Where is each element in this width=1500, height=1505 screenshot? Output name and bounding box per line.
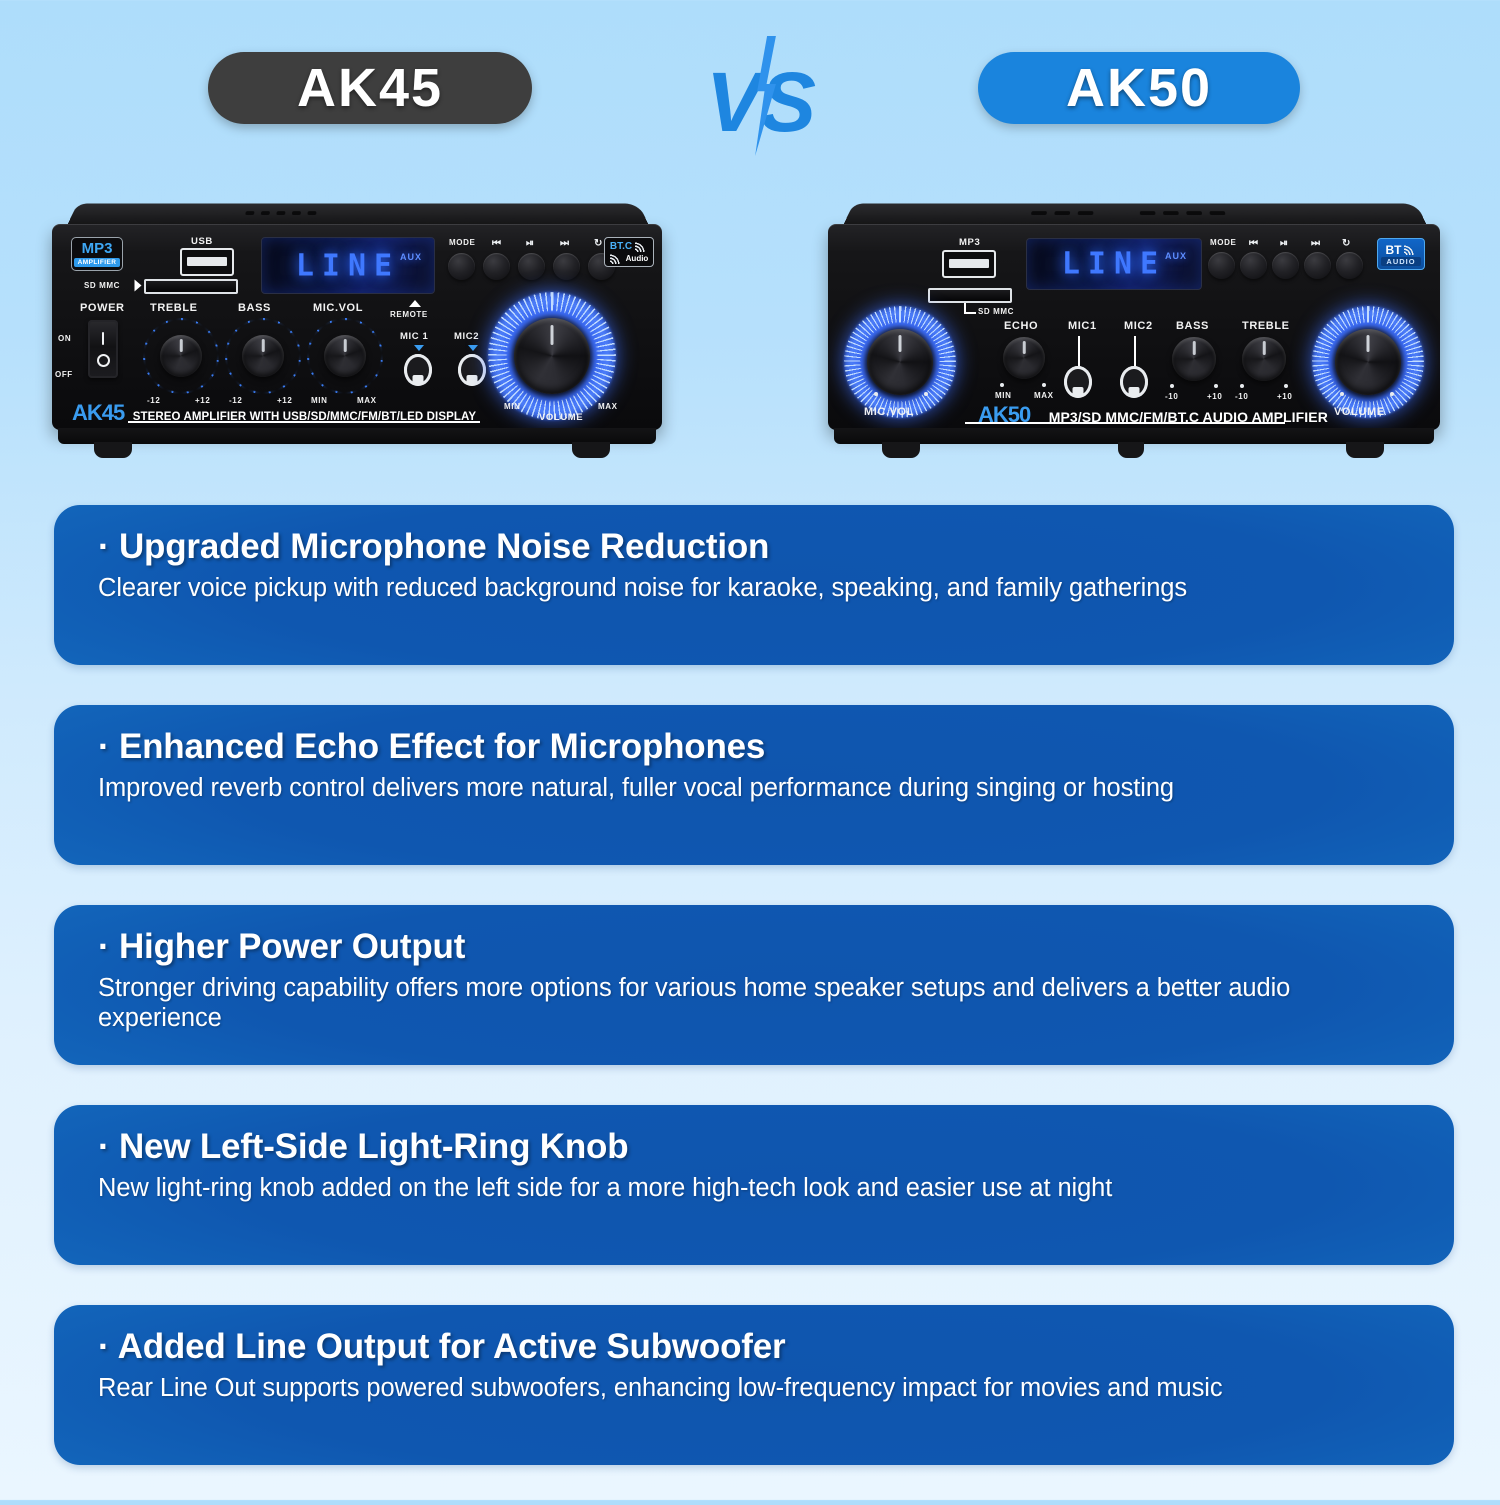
mic2-arrow-icon xyxy=(468,345,478,351)
model-badge-ak45: AK45 xyxy=(208,52,532,124)
ak50-foot-right xyxy=(1346,442,1384,458)
treble-knob-label: TREBLE xyxy=(150,302,198,314)
echo-max-dot xyxy=(1042,383,1046,387)
mic2-leader-line xyxy=(1134,336,1136,368)
ak45-foot-right xyxy=(572,442,610,458)
mic-vol-max-dot xyxy=(924,392,928,396)
remote-label: REMOTE xyxy=(390,310,428,319)
mic-vol-knob-label: MIC.VOL xyxy=(313,302,363,314)
repeat-button-ak50[interactable] xyxy=(1336,252,1363,279)
treble-knob-ak50[interactable] xyxy=(1242,337,1286,381)
device-image-ak50: MP3 SD MMC LINE AUX MODE ⏮ ⏯ ⏭ ↻ BT xyxy=(828,196,1440,466)
feature-title: · Upgraded Microphone Noise Reduction xyxy=(98,527,1412,567)
play-pause-button[interactable] xyxy=(518,253,545,280)
treble-max-dot xyxy=(1284,384,1288,388)
echo-min-label: MIN xyxy=(995,391,1011,400)
model-badge-ak50: AK50 xyxy=(978,52,1300,124)
mic-vol-knob-cap[interactable] xyxy=(867,329,933,395)
next-track-icon-ak50: ⏭ xyxy=(1311,238,1320,249)
mic-vol-knob[interactable] xyxy=(324,335,366,377)
feature-title: · New Left-Side Light-Ring Knob xyxy=(98,1127,1412,1167)
previous-track-icon: ⏮ xyxy=(492,238,501,249)
model-badge-ak50-label: AK50 xyxy=(1066,61,1212,115)
echo-knob[interactable] xyxy=(1003,337,1045,379)
ak50-brand-underline xyxy=(965,422,1285,424)
feature-title: · Higher Power Output xyxy=(98,927,1412,967)
bass-knob-ak50[interactable] xyxy=(1172,337,1216,381)
bt-badge-line2-ak50: AUDIO xyxy=(1381,257,1420,266)
volume-knob-cap[interactable] xyxy=(514,318,590,394)
bass-max-dot xyxy=(1214,384,1218,388)
ak50-brand-line: AK50 MP3/SD MMC/FM/BT.C AUDIO AMPLIFIER xyxy=(978,402,1328,428)
ak45-chassis-base xyxy=(58,428,656,444)
sd-leader-line-h xyxy=(964,312,976,314)
mp3-amplifier-badge: MP3 AMPLIFIER xyxy=(71,237,123,271)
power-off-mark-icon xyxy=(97,354,110,367)
bass-knob[interactable] xyxy=(242,335,284,377)
bass-knob-label: BASS xyxy=(238,302,271,314)
play-pause-button-ak50[interactable] xyxy=(1272,252,1299,279)
feature-card: · Upgraded Microphone Noise Reduction Cl… xyxy=(54,505,1454,665)
feature-card: · Added Line Output for Active Subwoofer… xyxy=(54,1305,1454,1465)
mic-vol-label-ak50: MIC.VOL xyxy=(864,406,914,418)
signal-wave-icon-ak50 xyxy=(1404,244,1417,255)
treble-min-label-ak50: -10 xyxy=(1235,392,1248,401)
next-track-icon: ⏭ xyxy=(560,238,569,249)
bt-badge-line2: Audio xyxy=(626,254,649,263)
mic2-jack-label: MIC2 xyxy=(454,331,479,342)
mic1-arrow-icon xyxy=(414,345,424,351)
sd-mmc-label: SD MMC xyxy=(84,281,120,290)
bass-min-label-ak50: -10 xyxy=(1165,392,1178,401)
bt-badge-line1: BT.C xyxy=(610,241,632,252)
next-button[interactable] xyxy=(553,253,580,280)
signal-wave-icon-2 xyxy=(610,253,623,264)
remote-arrow-icon xyxy=(409,300,421,307)
bt-c-audio-badge: BT.C Audio xyxy=(604,237,654,267)
volume-max-label: MAX xyxy=(598,402,618,411)
mic1-leader-line xyxy=(1078,336,1080,368)
bass-knob-label-ak50: BASS xyxy=(1176,320,1209,332)
previous-track-icon-ak50: ⏮ xyxy=(1249,238,1258,249)
volume-min-dot-ak50 xyxy=(1340,392,1344,396)
usb-port-ak50[interactable] xyxy=(942,250,996,278)
volume-knob-ak45[interactable] xyxy=(488,292,616,420)
bass-min-dot xyxy=(1170,384,1174,388)
mic-vol-min-dot xyxy=(874,392,878,396)
mic1-label-ak50: MIC1 xyxy=(1068,320,1097,332)
repeat-icon: ↻ xyxy=(594,238,602,249)
led-aux-indicator-ak50: AUX xyxy=(1165,251,1187,261)
volume-min-label: MIN xyxy=(504,402,520,411)
echo-knob-label: ECHO xyxy=(1004,320,1038,332)
ak45-brand-model: AK45 xyxy=(72,400,124,425)
mic2-jack-ak50[interactable] xyxy=(1120,366,1148,398)
power-off-label: OFF xyxy=(55,370,73,379)
treble-min-dot xyxy=(1240,384,1244,388)
volume-max-dot-ak50 xyxy=(1390,392,1394,396)
power-on-label: ON xyxy=(58,334,71,343)
treble-knob-label-ak50: TREBLE xyxy=(1242,320,1290,332)
feature-description: Clearer voice pickup with reduced backgr… xyxy=(98,574,1412,604)
feature-card: · Enhanced Echo Effect for Microphones I… xyxy=(54,705,1454,865)
next-button-ak50[interactable] xyxy=(1304,252,1331,279)
ak50-front-panel: MP3 SD MMC LINE AUX MODE ⏮ ⏯ ⏭ ↻ BT xyxy=(828,224,1440,430)
previous-button-ak50[interactable] xyxy=(1240,252,1267,279)
bt-badge-line1-ak50: BT xyxy=(1386,243,1402,257)
feature-list: · Upgraded Microphone Noise Reduction Cl… xyxy=(54,505,1454,1505)
mp3-badge-line2: AMPLIFIER xyxy=(74,258,121,267)
mic-vol-knob-ak50[interactable] xyxy=(844,306,956,418)
mic2-label-ak50: MIC2 xyxy=(1124,320,1153,332)
mp3-label-ak50: MP3 xyxy=(959,237,980,248)
repeat-icon-ak50: ↻ xyxy=(1342,238,1350,249)
treble-max-label-ak50: +10 xyxy=(1277,392,1292,401)
volume-knob-ak50[interactable] xyxy=(1312,306,1424,418)
feature-card: · Higher Power Output Stronger driving c… xyxy=(54,905,1454,1065)
led-display-ak50: LINE AUX xyxy=(1026,238,1202,290)
mic1-jack-label: MIC 1 xyxy=(400,331,428,342)
device-image-ak45: MP3 AMPLIFIER USB SD MMC LINE AUX MODE ⏮… xyxy=(52,196,662,466)
sd-card-slot[interactable] xyxy=(144,279,238,294)
ak45-foot-left xyxy=(94,442,132,458)
signal-wave-icon xyxy=(635,241,648,252)
mic1-jack-ak50[interactable] xyxy=(1064,366,1092,398)
feature-description: Improved reverb control delivers more na… xyxy=(98,774,1412,804)
led-display-ak45: LINE AUX xyxy=(261,237,435,294)
usb-label: USB xyxy=(191,236,213,247)
mode-button-label-ak50: MODE xyxy=(1210,238,1236,247)
comparison-infographic: AK45 VS AK50 MP3 AMPLIFIER USB SD MMC xyxy=(0,0,1500,1500)
power-on-mark-icon xyxy=(102,332,105,345)
sd-card-slot-ak50[interactable] xyxy=(928,288,1012,303)
power-label: POWER xyxy=(80,302,125,314)
mp3-badge-line1: MP3 xyxy=(82,241,113,256)
previous-button[interactable] xyxy=(483,253,510,280)
sd-mmc-label-ak50: SD MMC xyxy=(978,307,1014,316)
echo-min-dot xyxy=(1000,383,1004,387)
power-switch[interactable] xyxy=(88,320,118,378)
feature-title: · Enhanced Echo Effect for Microphones xyxy=(98,727,1412,767)
volume-knob-cap-ak50[interactable] xyxy=(1335,329,1401,395)
bt-audio-badge-ak50: BT AUDIO xyxy=(1377,238,1425,270)
bass-max-label-ak50: +10 xyxy=(1207,392,1222,401)
feature-title: · Added Line Output for Active Subwoofer xyxy=(98,1327,1412,1367)
mic1-jack[interactable] xyxy=(404,354,432,386)
feature-card: · New Left-Side Light-Ring Knob New ligh… xyxy=(54,1105,1454,1265)
mode-button-ak50[interactable] xyxy=(1208,252,1235,279)
mode-button-label: MODE xyxy=(449,238,475,247)
volume-label-ak50: VOLUME xyxy=(1334,406,1385,418)
sd-arrow-icon xyxy=(135,280,142,292)
led-aux-indicator: AUX xyxy=(400,252,422,262)
play-pause-icon-ak50: ⏯ xyxy=(1280,238,1288,249)
mic2-jack[interactable] xyxy=(458,354,486,386)
led-display-text-ak50: LINE xyxy=(1062,247,1166,282)
ak50-foot-left xyxy=(882,442,920,458)
usb-port[interactable] xyxy=(180,248,234,276)
feature-description: New light-ring knob added on the left si… xyxy=(98,1174,1412,1204)
ak50-foot-center xyxy=(1118,442,1144,458)
header: AK45 VS AK50 xyxy=(0,52,1500,152)
mode-button[interactable] xyxy=(448,253,475,280)
vs-separator: VS xyxy=(690,42,830,162)
led-display-text: LINE xyxy=(296,248,400,283)
volume-label-ak45: VOLUME xyxy=(539,412,583,423)
ak45-front-panel: MP3 AMPLIFIER USB SD MMC LINE AUX MODE ⏮… xyxy=(52,224,662,430)
model-badge-ak45-label: AK45 xyxy=(297,61,443,115)
echo-max-label: MAX xyxy=(1034,391,1054,400)
feature-description: Rear Line Out supports powered subwoofer… xyxy=(98,1374,1412,1404)
feature-description: Stronger driving capability offers more … xyxy=(98,974,1412,1033)
play-pause-icon: ⏯ xyxy=(526,238,534,249)
ak45-brand-underline xyxy=(128,421,480,423)
treble-knob[interactable] xyxy=(160,335,202,377)
